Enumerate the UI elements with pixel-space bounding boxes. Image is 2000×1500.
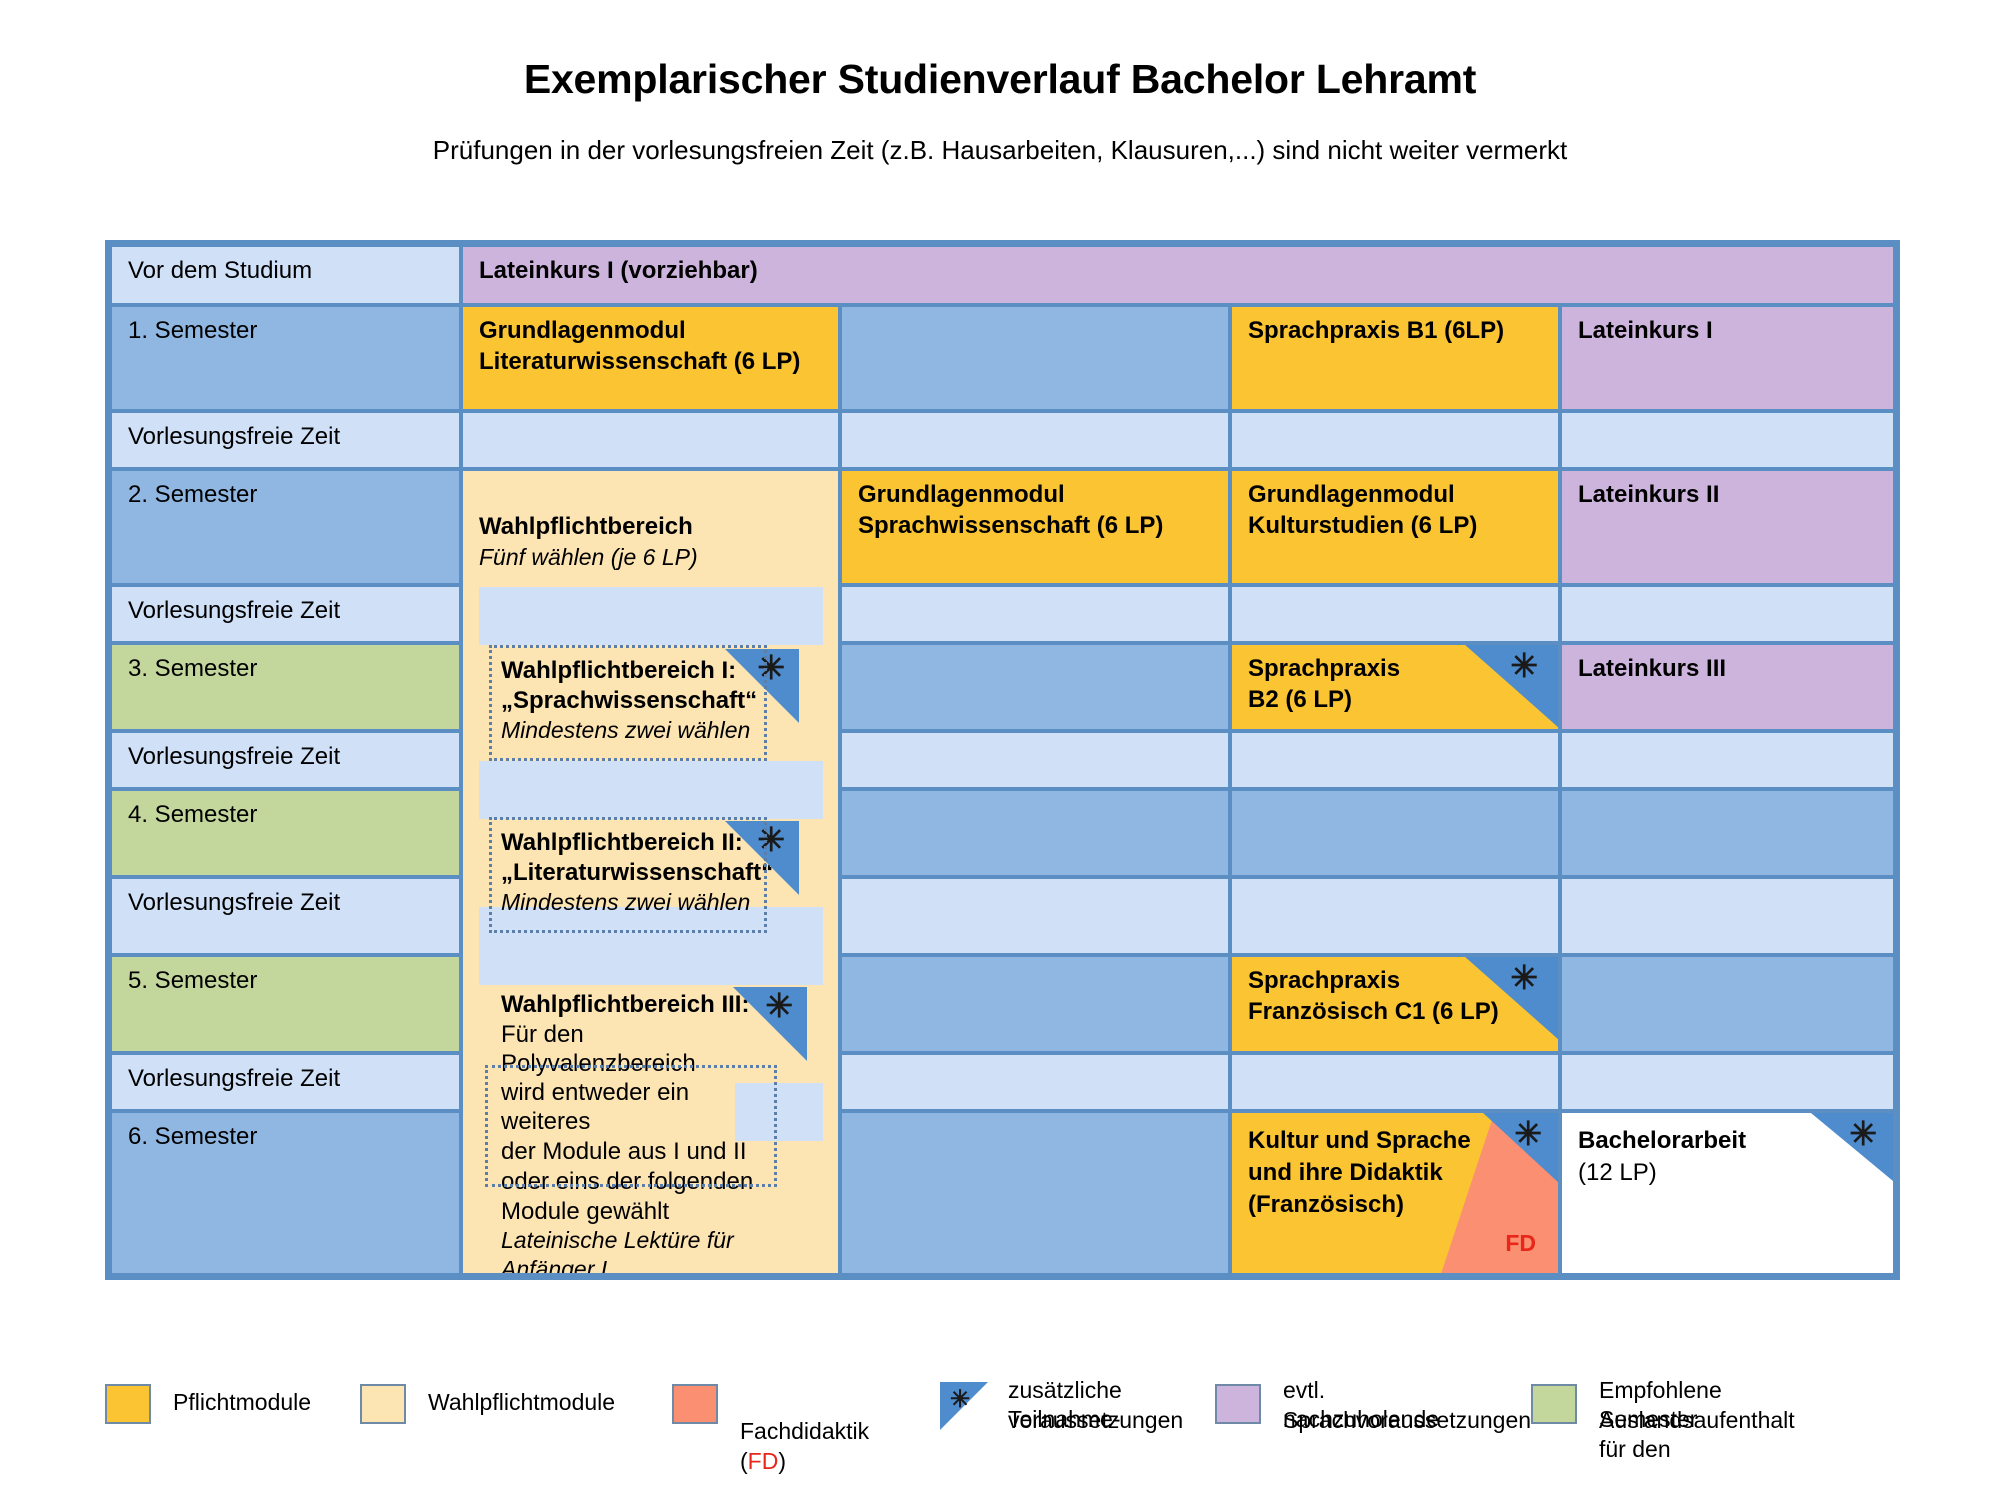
row-label-semester-2: 2. Semester [110, 469, 461, 585]
cell-empty-r5c3 [840, 643, 1230, 731]
row-label-text: 1. Semester [112, 307, 459, 346]
module-title-line2: Literaturwissenschaft (6 LP) [463, 346, 838, 377]
legend-label-line2: Sprachvoraussetzungen [1283, 1406, 1531, 1435]
module-title-line2: Kulturstudien (6 LP) [1232, 510, 1558, 541]
module-option-1b: Anfänger I [491, 1255, 781, 1275]
module-title: Lateinkurs III [1562, 645, 1893, 684]
row-label-semester-4: 4. Semester [110, 789, 461, 877]
row-label-text: 2. Semester [112, 471, 459, 510]
module-sprachpraxis-b1[interactable]: Sprachpraxis B1 (6LP) [1230, 305, 1560, 411]
module-title: Sprachpraxis B1 (6LP) [1232, 307, 1558, 346]
cell-break-r4c3 [840, 585, 1230, 643]
cell-break-r2c2 [461, 411, 840, 469]
row-label-text: Vorlesungsfreie Zeit [112, 587, 459, 626]
legend-label: Fachdidaktik (FD) [740, 1388, 869, 1476]
module-wahlpflichtbereich[interactable]: Wahlpflichtbereich Fünf wählen (je 6 LP)… [461, 469, 840, 1275]
cell-break-r2c3 [840, 411, 1230, 469]
module-title-line2: B2 (6 LP) [1232, 684, 1558, 715]
cell-break-r4c4 [1230, 585, 1560, 643]
cell-break-r2c4 [1230, 411, 1560, 469]
study-plan-page: Exemplarischer Studienverlauf Bachelor L… [0, 0, 2000, 1500]
module-lateinkurs-2[interactable]: Lateinkurs II [1560, 469, 1895, 585]
legend: Pflichtmodule Wahlpflichtmodule Fachdida… [0, 1382, 2000, 1482]
cell-break-r4c5 [1560, 585, 1895, 643]
cell-empty-r11c3 [840, 1111, 1230, 1275]
row-label-text: 4. Semester [112, 791, 459, 830]
module-title: Bachelorarbeit [1562, 1113, 1893, 1156]
inner-break-strip-2 [479, 761, 823, 819]
row-label-break-5: Vorlesungsfreie Zeit [110, 1053, 461, 1111]
row-label-text: Vor dem Studium [112, 247, 459, 286]
module-wahlpflichtbereich-1[interactable]: ✳ Wahlpflichtbereich I: „Sprachwissensch… [491, 649, 763, 757]
row-label-text: Vorlesungsfreie Zeit [112, 879, 459, 918]
legend-swatch-wahlpflichtmodule [360, 1384, 406, 1424]
module-title-line1: Grundlagenmodul [1232, 471, 1558, 510]
module-lateinkurs-3[interactable]: Lateinkurs III [1560, 643, 1895, 731]
module-line4: der Module aus I und II [491, 1137, 781, 1167]
cell-break-r10c3 [840, 1053, 1230, 1111]
legend-label-accent: FD [748, 1448, 779, 1474]
legend-swatch-fachdidaktik [672, 1384, 718, 1424]
module-title-line1: Sprachpraxis [1232, 645, 1558, 684]
module-subtitle: Fünf wählen (je 6 LP) [463, 542, 838, 572]
row-label-text: 3. Semester [112, 645, 459, 684]
cell-break-r8c5 [1560, 877, 1895, 955]
legend-swatch-pflichtmodule [105, 1384, 151, 1424]
inner-break-strip-1 [479, 587, 823, 645]
module-title-line1: Grundlagenmodul [463, 307, 838, 346]
cell-break-r10c4 [1230, 1053, 1560, 1111]
module-line5: oder eins der folgenden [491, 1167, 781, 1197]
row-label-vor-dem-studium: Vor dem Studium [110, 245, 461, 305]
page-subtitle: Prüfungen in der vorlesungsfreien Zeit (… [0, 135, 2000, 166]
legend-swatch-sprachvoraussetzungen [1215, 1384, 1261, 1424]
legend-label: Wahlpflichtmodule [428, 1388, 615, 1417]
row-label-semester-5: 5. Semester [110, 955, 461, 1053]
legend-asterisk-flag-icon: ✳ [940, 1382, 988, 1430]
cell-break-r6c4 [1230, 731, 1560, 789]
cell-empty-r7c4 [1230, 789, 1560, 877]
module-wahlpflichtbereich-2[interactable]: ✳ Wahlpflichtbereich II: „Literaturwisse… [491, 821, 763, 929]
module-line3: wird entweder ein weiteres [491, 1078, 781, 1137]
legend-label-tail: ) [778, 1448, 786, 1474]
module-line2: Für den Polyvalenzbereich [491, 1020, 781, 1079]
module-credits: (12 LP) [1562, 1156, 1893, 1188]
module-bachelorarbeit[interactable]: ✳ Bachelorarbeit (12 LP) [1560, 1111, 1895, 1275]
module-title: Lateinkurs I (vorziehbar) [463, 247, 1893, 286]
row-label-text: Vorlesungsfreie Zeit [112, 1055, 459, 1094]
cell-empty-r9c5 [1560, 955, 1895, 1053]
module-option-1a: Lateinische Lektüre für [491, 1226, 781, 1255]
asterisk-icon: ✳ [950, 1385, 970, 1414]
cell-break-r10c5 [1560, 1053, 1895, 1111]
module-subtitle: Mindestens zwei wählen [491, 716, 763, 745]
cell-break-r8c3 [840, 877, 1230, 955]
cell-break-r6c3 [840, 731, 1230, 789]
row-label-semester-6: 6. Semester [110, 1111, 461, 1275]
module-grundlagenmodul-sprachwissenschaft[interactable]: Grundlagenmodul Sprachwissenschaft (6 LP… [840, 469, 1230, 585]
row-label-break-4: Vorlesungsfreie Zeit [110, 877, 461, 955]
module-title-line1: Wahlpflichtbereich III: [491, 985, 781, 1020]
module-wahlpflichtbereich-3[interactable]: ✳ Wahlpflichtbereich III: Für den Polyva… [491, 985, 781, 1265]
legend-label: Pflichtmodule [173, 1388, 311, 1417]
module-title-line2: „Literaturwissenschaft“ [491, 858, 763, 888]
page-title: Exemplarischer Studienverlauf Bachelor L… [0, 56, 2000, 103]
module-title-line1: Wahlpflichtbereich II: [491, 821, 763, 858]
module-title-line2: „Sprachwissenschaft“ [491, 686, 763, 716]
module-line6: Module gewählt [491, 1197, 781, 1227]
module-sprachpraxis-b2[interactable]: ✳ Sprachpraxis B2 (6 LP) [1230, 643, 1560, 731]
module-title: Lateinkurs I [1562, 307, 1893, 346]
row-label-break-2: Vorlesungsfreie Zeit [110, 585, 461, 643]
module-grundlagenmodul-kulturstudien[interactable]: Grundlagenmodul Kulturstudien (6 LP) [1230, 469, 1560, 585]
module-subtitle: Mindestens zwei wählen [491, 888, 763, 917]
row-label-break-1: Vorlesungsfreie Zeit [110, 411, 461, 469]
module-title-line1: Grundlagenmodul [842, 471, 1228, 510]
row-label-semester-1: 1. Semester [110, 305, 461, 411]
cell-break-r6c5 [1560, 731, 1895, 789]
cell-empty-r7c5 [1560, 789, 1895, 877]
module-kultur-und-sprache-didaktik[interactable]: ✳ Kultur und Sprache und ihre Didaktik (… [1230, 1111, 1560, 1275]
module-title-line2: Französisch C1 (6 LP) [1232, 996, 1558, 1027]
fd-badge: FD [1505, 1230, 1536, 1257]
module-title: Lateinkurs II [1562, 471, 1893, 510]
module-lateinkurs-1[interactable]: Lateinkurs I [1560, 305, 1895, 411]
cell-empty-r9c3 [840, 955, 1230, 1053]
module-grundlagenmodul-literaturwissenschaft[interactable]: Grundlagenmodul Literaturwissenschaft (6… [461, 305, 840, 411]
row-label-semester-3: 3. Semester [110, 643, 461, 731]
row-label-text: Vorlesungsfreie Zeit [112, 413, 459, 452]
legend-label-line2: Auslandsaufenthalt [1599, 1406, 1795, 1435]
module-title-line1: Sprachpraxis [1232, 957, 1558, 996]
study-plan-grid: Vor dem Studium 1. Semester Vorlesungsfr… [105, 240, 1900, 1280]
cell-break-r8c4 [1230, 877, 1560, 955]
module-title: Wahlpflichtbereich [463, 471, 838, 542]
row-label-break-3: Vorlesungsfreie Zeit [110, 731, 461, 789]
row-label-text: Vorlesungsfreie Zeit [112, 733, 459, 772]
row-label-text: 5. Semester [112, 957, 459, 996]
module-sprachpraxis-c1[interactable]: ✳ Sprachpraxis Französisch C1 (6 LP) [1230, 955, 1560, 1053]
cell-empty-r1c3 [840, 305, 1230, 411]
module-lateinkurs-vorziehbar[interactable]: Lateinkurs I (vorziehbar) [461, 245, 1895, 305]
legend-swatch-auslandsaufenthalt [1531, 1384, 1577, 1424]
legend-label-line2: voraussetzungen [1008, 1406, 1183, 1435]
cell-empty-r7c3 [840, 789, 1230, 877]
row-label-text: 6. Semester [112, 1113, 459, 1152]
module-title-line1: Wahlpflichtbereich I: [491, 649, 763, 686]
module-title-line2: Sprachwissenschaft (6 LP) [842, 510, 1228, 541]
cell-break-r2c5 [1560, 411, 1895, 469]
